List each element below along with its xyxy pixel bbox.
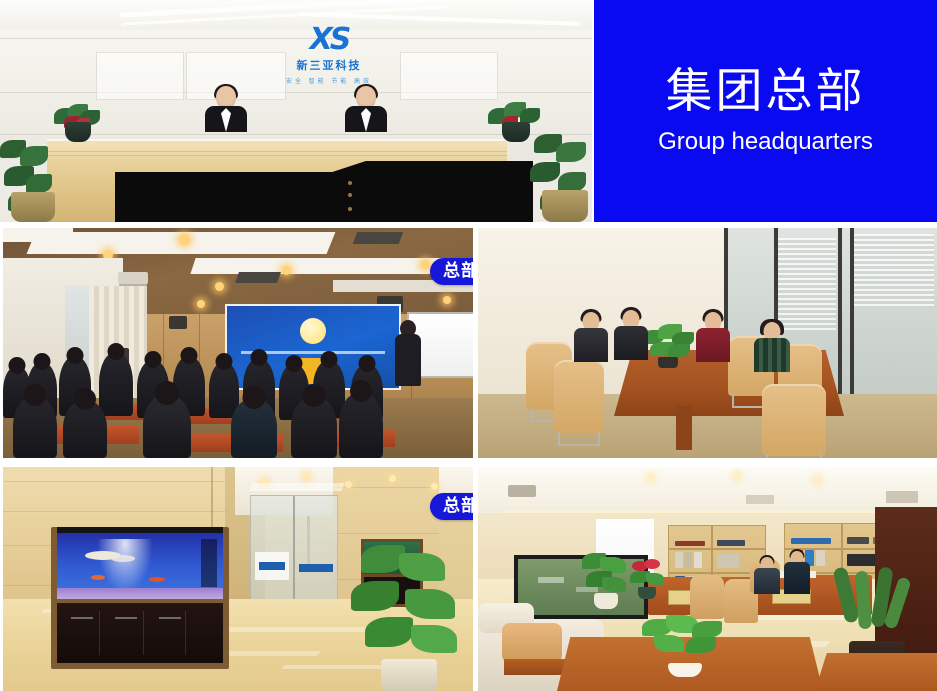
- page-title-en: Group headquarters: [658, 128, 873, 157]
- red-flower-plant: [630, 559, 664, 599]
- side-table-right: [813, 653, 937, 691]
- aquarium-cabinet: [57, 603, 223, 663]
- standing-person: [784, 551, 810, 593]
- attendee-plaid: [754, 322, 790, 374]
- presenter: [395, 320, 421, 386]
- plant-far-right: [530, 100, 592, 222]
- side-table: [504, 659, 570, 675]
- logo-company-name: 新三亚科技: [269, 57, 389, 73]
- badge-headquarters-style-row3: 总部风采: [430, 493, 473, 520]
- page-title-cn: 集团总部: [666, 65, 866, 118]
- slide-graphic: [300, 318, 326, 344]
- receptionist-right: [345, 86, 387, 132]
- torso: [205, 106, 247, 132]
- page-root: XS 新三亚科技 安全 智能 节能 高效: [0, 0, 937, 691]
- seated-person: [754, 557, 780, 597]
- office-scene: [478, 467, 937, 691]
- attendee-suit-2: [614, 310, 648, 360]
- aquarium: [514, 555, 648, 619]
- floor-plant: [582, 553, 626, 609]
- logo-tagline: 安全 智能 节能 高效: [269, 76, 389, 85]
- chair: [762, 384, 826, 456]
- attendee: [231, 398, 277, 458]
- logo-mark-xs: XS: [269, 25, 389, 55]
- lobby-aquarium-photo[interactable]: 总部风采: [3, 467, 473, 691]
- speaker-left: [169, 316, 187, 329]
- table-centerpiece-plant: [642, 615, 734, 677]
- chair: [554, 360, 604, 434]
- potted-plant: [351, 545, 473, 691]
- receptionist-left: [205, 86, 247, 132]
- training-scene: [3, 228, 473, 458]
- attendee: [99, 352, 133, 416]
- attendee-suit-1: [574, 312, 608, 362]
- armchair: [502, 623, 562, 663]
- projector: [508, 485, 536, 497]
- table-plant: [640, 324, 696, 368]
- lobby-scene: [3, 467, 473, 691]
- reception-desk-photo[interactable]: XS 新三亚科技 安全 智能 节能 高效: [0, 0, 592, 222]
- fish-tank: [57, 533, 223, 599]
- open-office-photo[interactable]: [478, 467, 937, 691]
- projector: [118, 272, 148, 284]
- plant-far-left: [0, 108, 66, 222]
- meeting-room-photo[interactable]: [478, 228, 937, 458]
- reception-counter: [47, 139, 507, 222]
- badge-headquarters-style-row2: 总部风采: [430, 258, 473, 285]
- torso: [395, 334, 421, 386]
- office-chair: [690, 575, 724, 619]
- attendee: [143, 394, 191, 458]
- reception-scene: XS 新三亚科技 安全 智能 节能 高效: [0, 0, 592, 222]
- attendee: [13, 396, 57, 458]
- table-leg: [676, 406, 692, 450]
- torso: [345, 106, 387, 132]
- attendee: [339, 392, 383, 458]
- group-headquarters-title-panel: 集团总部 Group headquarters: [594, 0, 937, 222]
- training-room-photo[interactable]: 总部风采: [3, 228, 473, 458]
- company-logo: XS 新三亚科技 安全 智能 节能 高效: [269, 25, 389, 85]
- aquarium-large: [51, 527, 229, 669]
- meeting-scene: [478, 228, 937, 458]
- attendee-red: [696, 312, 730, 362]
- attendee: [63, 400, 107, 458]
- attendee: [291, 396, 337, 458]
- counter-front-panel: [115, 161, 533, 222]
